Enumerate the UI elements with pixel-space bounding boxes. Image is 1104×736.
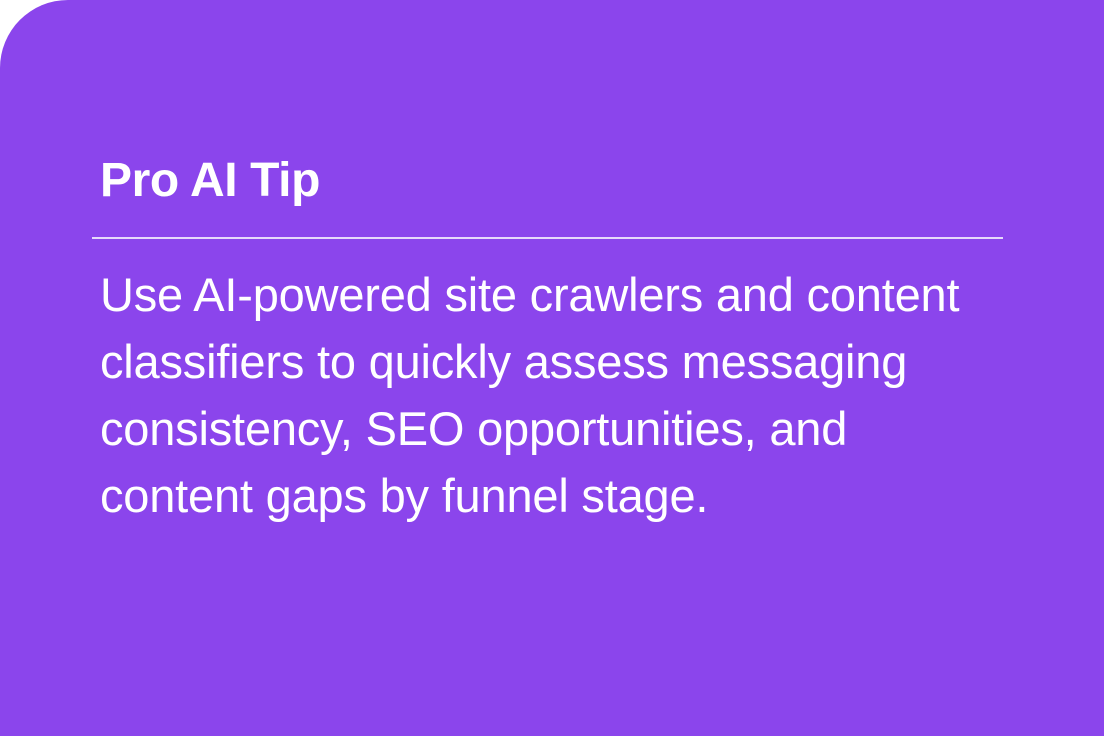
title-divider bbox=[92, 237, 1003, 239]
tip-content-block: Pro AI Tip Use AI-powered site crawlers … bbox=[100, 152, 1012, 529]
pro-ai-tip-card: Pro AI Tip Use AI-powered site crawlers … bbox=[0, 0, 1104, 736]
tip-body-text: Use AI-powered site crawlers and content… bbox=[100, 261, 1000, 529]
page-title: Pro AI Tip bbox=[100, 152, 1012, 210]
